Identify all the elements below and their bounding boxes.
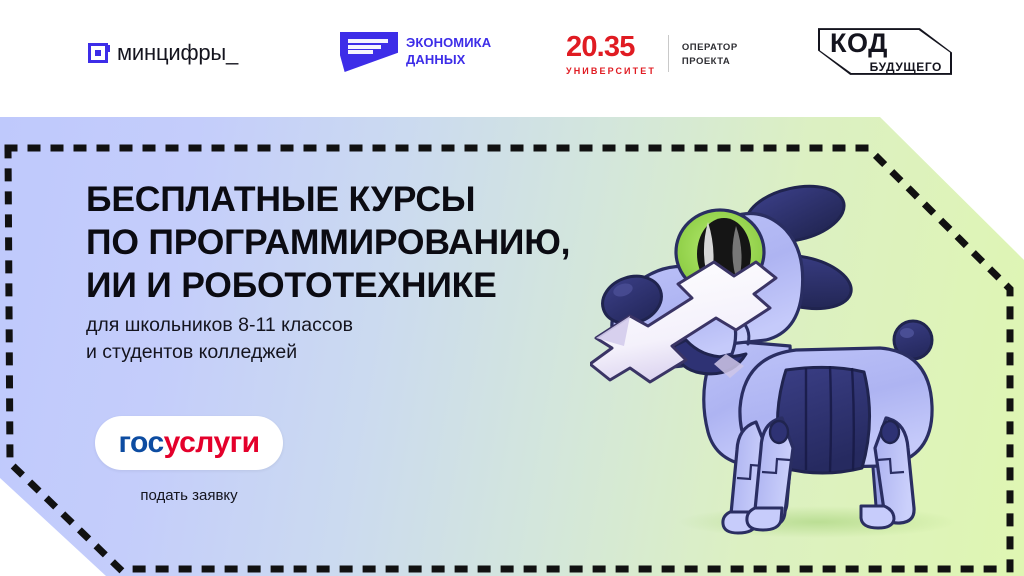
project-operator-line1: ОПЕРАТОР [682, 41, 738, 55]
logo-mincifry: минцифры_ [88, 40, 238, 66]
ekonomika-dannyh-line2: ДАННЫХ [406, 52, 491, 69]
project-operator-line2: ПРОЕКТА [682, 55, 738, 69]
nacproekty-flag-icon [340, 32, 398, 72]
ekonomika-dannyh-label: ЭКОНОМИКА ДАННЫХ [406, 32, 491, 68]
gosuslugi-logo-part2: услуги [164, 428, 260, 458]
university-2035-mark: 20.35 УНИВЕРСИТЕТ [566, 33, 668, 76]
kod-budushchego-main-label: КОД [830, 30, 888, 57]
ekonomika-dannyh-line1: ЭКОНОМИКА [406, 35, 491, 52]
kod-budushchego-sub-label: БУДУЩЕГО [870, 61, 942, 73]
logo-nacproekty-ekonomika-dannyh: ЭКОНОМИКА ДАННЫХ [340, 32, 491, 72]
dog-ground-shadow [678, 506, 958, 538]
logo-kod-budushchego: КОД БУДУЩЕГО [818, 25, 952, 78]
flag-text-lines [348, 39, 388, 54]
gosuslugi-logo-part1: гос [118, 428, 163, 458]
robot-dog-illustration [590, 160, 1020, 560]
mincifry-dot-icon [107, 45, 110, 52]
logo-university-2035: 20.35 УНИВЕРСИТЕТ ОПЕРАТОР ПРОЕКТА [566, 33, 738, 76]
promo-subtitle: для школьников 8-11 классов и студентов … [86, 312, 353, 366]
promo-headline: БЕСПЛАТНЫЕ КУРСЫ ПО ПРОГРАММИРОВАНИЮ, ИИ… [86, 178, 570, 307]
cta-block: госуслуги подать заявку [95, 416, 295, 504]
gosuslugi-apply-button[interactable]: госуслуги [95, 416, 283, 470]
university-2035-subtitle: УНИВЕРСИТЕТ [566, 66, 656, 76]
mincifry-square-frame-icon [88, 43, 108, 63]
project-operator-label: ОПЕРАТОР ПРОЕКТА [669, 41, 738, 69]
kod-budushchego-badge-shape: КОД БУДУЩЕГО [818, 25, 952, 78]
partner-logos-header: минцифры_ ЭКОНОМИКА ДАННЫХ 20.35 УНИВЕРС… [0, 0, 1024, 117]
logo-mincifry-label: минцифры_ [117, 40, 238, 66]
cta-caption: подать заявку [95, 487, 283, 504]
university-2035-number: 20.35 [566, 33, 635, 62]
